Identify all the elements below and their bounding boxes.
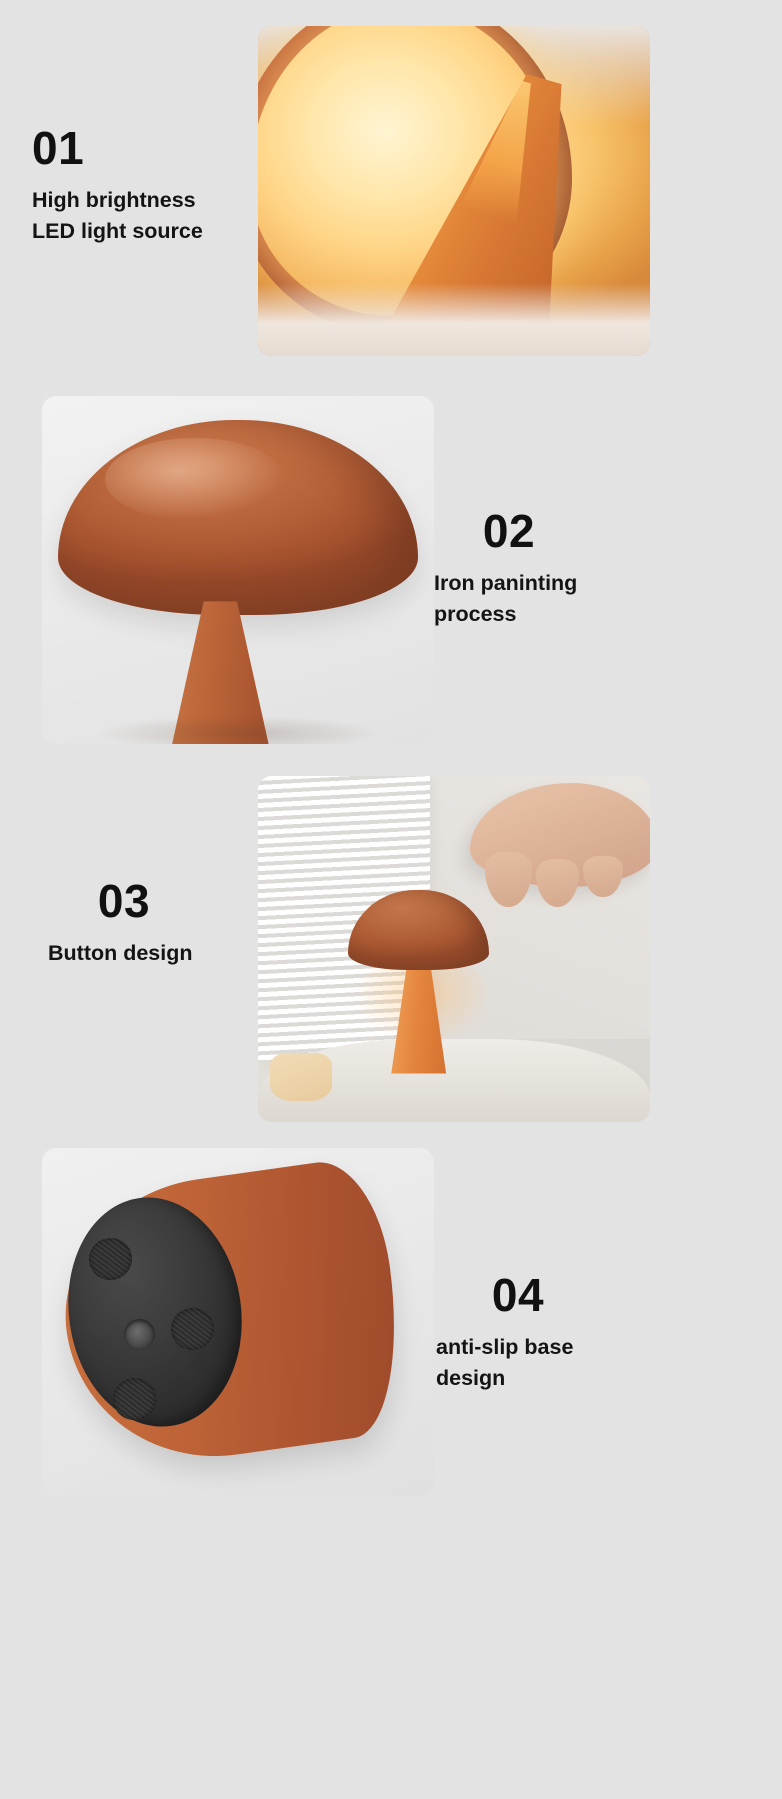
feature-image-04 [42, 1148, 434, 1496]
feature-number-04: 04 [436, 1272, 672, 1318]
photo2-dome-highlight [105, 438, 285, 522]
product-feature-infographic: 01 High brightness LED light source 02 I… [0, 0, 782, 1799]
photo1-floor [258, 283, 650, 356]
feature-text-04: 04 anti-slip base design [436, 1272, 672, 1393]
feature-description-02: Iron paninting process [434, 568, 664, 629]
feature-image-02 [42, 396, 434, 744]
feature-number-01: 01 [32, 125, 252, 171]
feature-description-03: Button design [48, 938, 258, 969]
feature-text-01: 01 High brightness LED light source [32, 125, 252, 246]
feature-image-03 [258, 776, 650, 1122]
feature-description-04: anti-slip base design [436, 1332, 672, 1393]
feature-description-01: High brightness LED light source [32, 185, 252, 246]
photo3-candle-decor [270, 1053, 333, 1101]
feature-image-01 [258, 26, 650, 356]
photo2-ground-shadow [97, 716, 379, 744]
feature-text-02: 02 Iron paninting process [434, 508, 664, 629]
feature-number-02: 02 [434, 508, 664, 554]
feature-number-03: 03 [48, 878, 258, 924]
feature-text-03: 03 Button design [48, 878, 258, 969]
